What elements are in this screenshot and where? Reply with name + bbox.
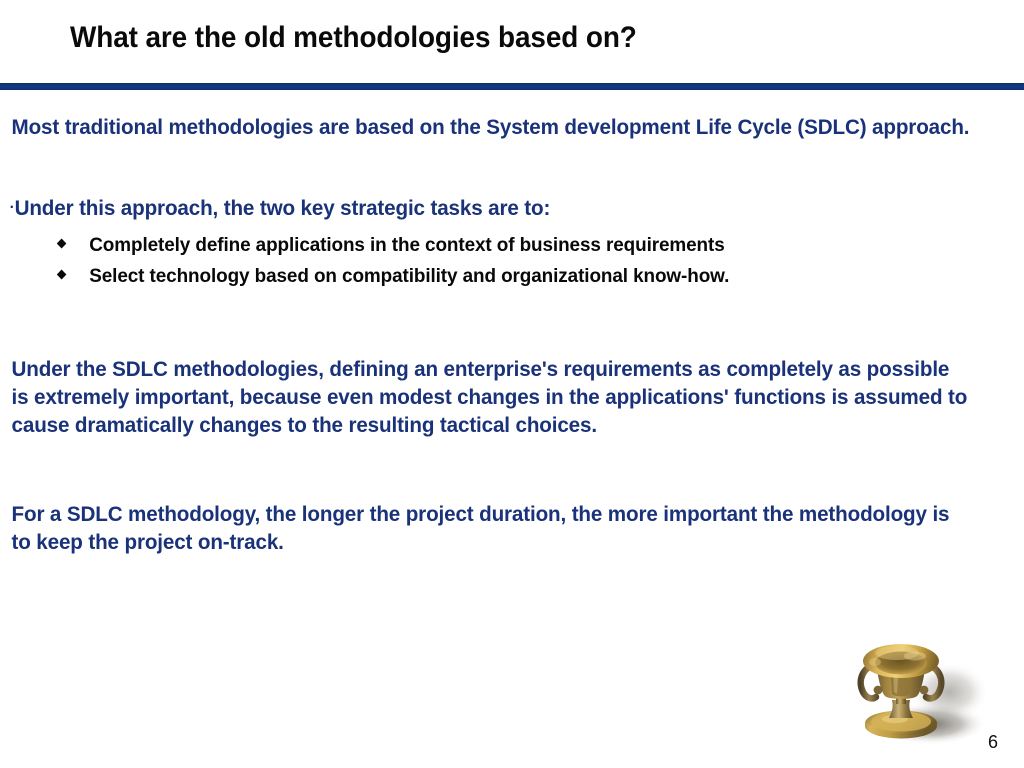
- list-item: Completely define applications in the co…: [0, 230, 993, 261]
- title-block: What are the old methodologies based on?: [70, 22, 970, 54]
- slide-canvas: What are the old methodologies based on?…: [0, 0, 1024, 768]
- list-item: Select technology based on compatibility…: [0, 261, 993, 292]
- paragraph-intro: Most traditional methodologies are based…: [0, 104, 983, 141]
- sub-bullet-list: Completely define applications in the co…: [0, 230, 1024, 292]
- page-number: 6: [988, 732, 998, 753]
- diamond-bullet-icon: [57, 239, 67, 249]
- lead-bullet-label: Under this approach, the two key strateg…: [15, 194, 551, 222]
- paragraph-duration: For a SDLC methodology, the longer the p…: [0, 500, 983, 556]
- trophy-cup-image: [845, 628, 995, 746]
- dot-bullet-icon: ·: [10, 200, 15, 216]
- page-title: What are the old methodologies based on?: [70, 22, 907, 54]
- list-item-label: Completely define applications in the co…: [89, 230, 724, 261]
- title-divider-rule: [0, 83, 1024, 90]
- diamond-bullet-icon: [57, 270, 67, 280]
- lead-bullet-item: · Under this approach, the two key strat…: [0, 194, 983, 222]
- bullet-group: · Under this approach, the two key strat…: [0, 194, 1024, 292]
- list-item-label: Select technology based on compatibility…: [89, 261, 729, 292]
- paragraph-sdlc: Under the SDLC methodologies, defining a…: [0, 355, 983, 439]
- slide-body: Most traditional methodologies are based…: [0, 104, 1024, 556]
